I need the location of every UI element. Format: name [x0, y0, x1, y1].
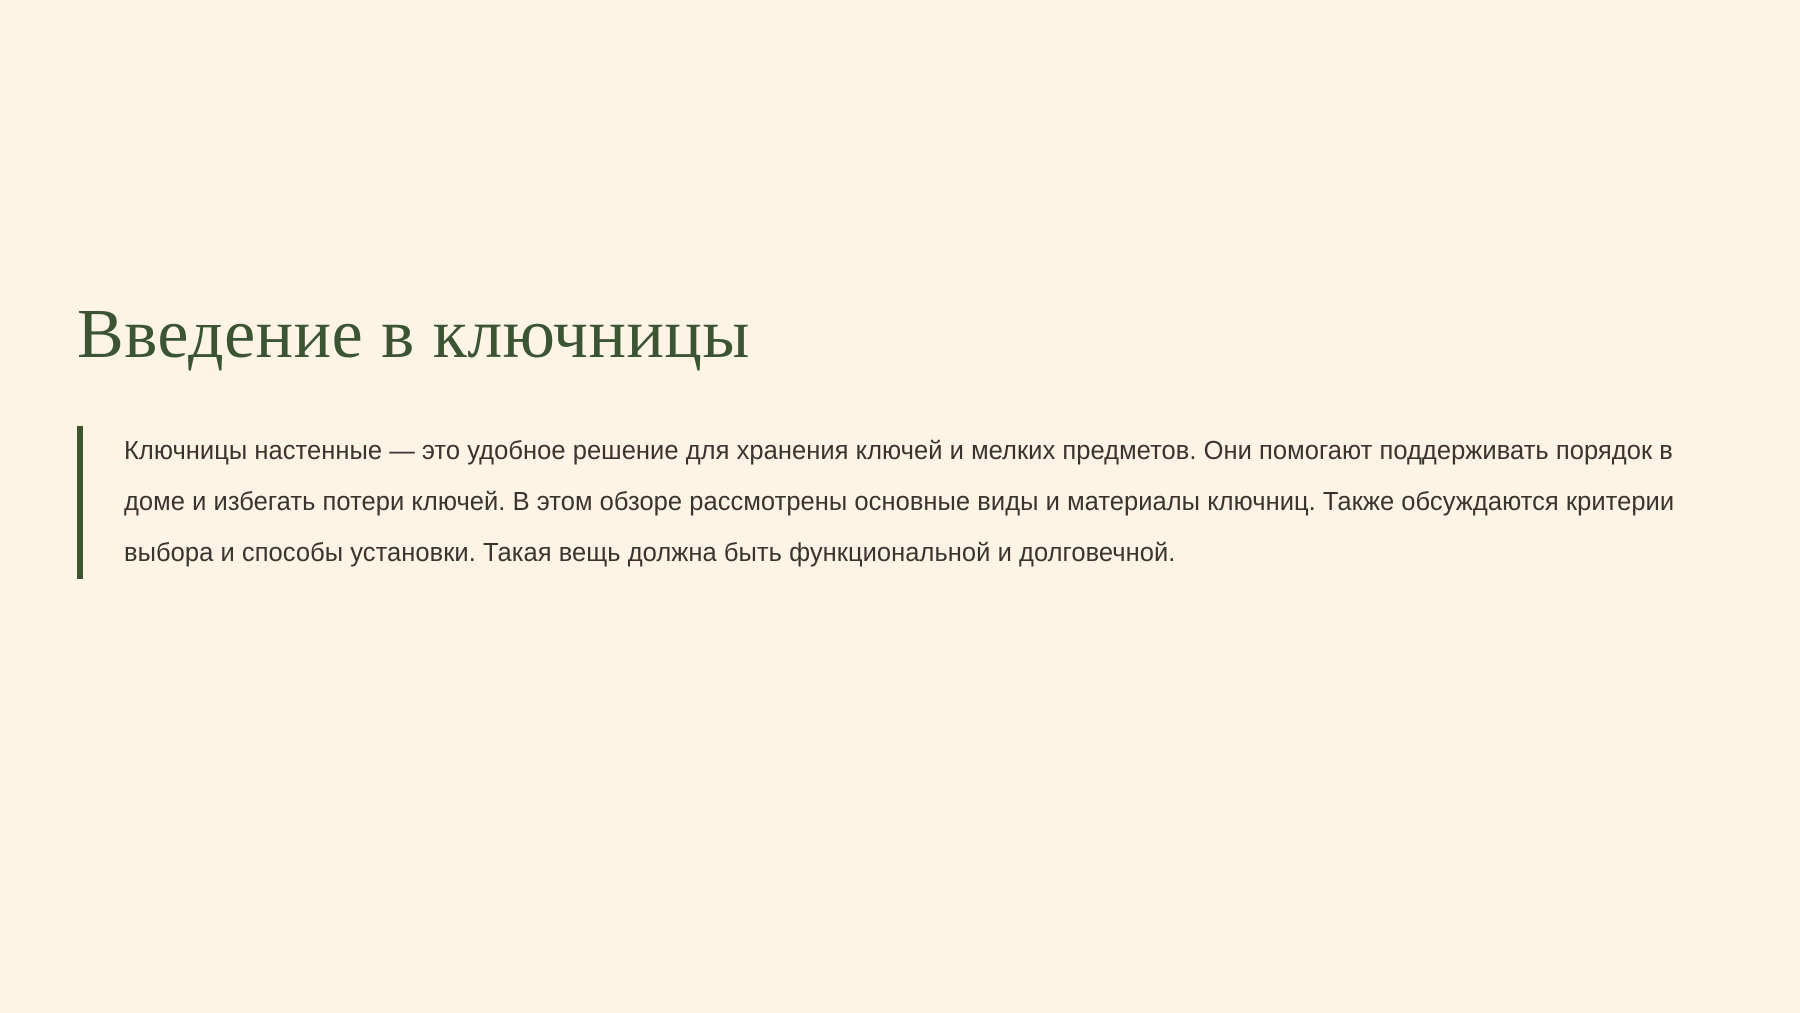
- intro-paragraph: Ключницы настенные — это удобное решение…: [83, 426, 1677, 579]
- content-block: Введение в ключницы Ключницы настенные —…: [77, 300, 1677, 579]
- slide-canvas: Введение в ключницы Ключницы настенные —…: [0, 0, 1800, 1013]
- intro-callout: Ключницы настенные — это удобное решение…: [77, 426, 1677, 579]
- page-title: Введение в ключницы: [77, 300, 1677, 370]
